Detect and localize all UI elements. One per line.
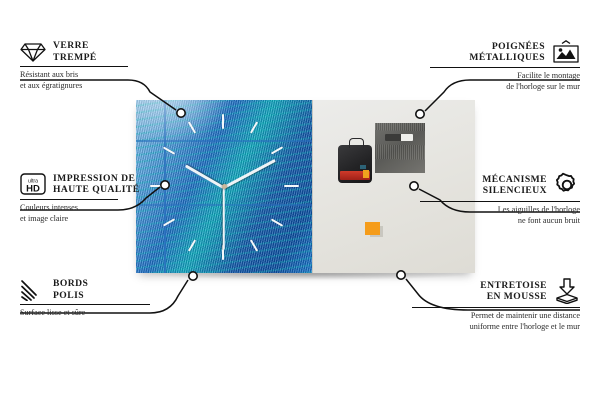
clock-tick [271, 218, 283, 226]
foam-spacer-pad [365, 222, 380, 235]
battery [340, 171, 370, 180]
callout-rule [20, 199, 118, 200]
callout-header: MÉCANISME SILENCIEUX [420, 172, 580, 198]
callout-rule [412, 307, 580, 308]
mechanism-hook-icon [349, 138, 364, 148]
callout-header: VERRE TREMPÉ [20, 40, 160, 63]
callout-subtitle-line1: Couleurs intenses [20, 203, 170, 213]
callout-impression-haute-qualite[interactable]: ultra HD IMPRESSION DE HAUTE QUALITÉ Cou… [20, 172, 170, 224]
picture-hanger-icon [552, 40, 580, 64]
callout-subtitle-line1: Résistant aux bris [20, 70, 160, 80]
battery-terminal [363, 170, 369, 178]
clock-tick [250, 121, 258, 133]
callout-subtitle-line1: Les aiguilles de l'horloge [420, 205, 580, 215]
clock-mechanism-module [338, 145, 372, 183]
callout-mecanisme-silencieux[interactable]: MÉCANISME SILENCIEUX Les aiguilles de l'… [420, 172, 580, 226]
callout-subtitle-line1: Permet de maintenir une distance [412, 311, 580, 321]
callout-title: POIGNÉES MÉTALLIQUES [469, 41, 545, 64]
clock-hour-hand [185, 164, 225, 189]
clock-tick [222, 114, 224, 129]
callout-header: POIGNÉES MÉTALLIQUES [430, 40, 580, 64]
callout-rule [430, 67, 580, 68]
clock-tick [163, 146, 175, 154]
callout-header: BORDS POLIS [20, 278, 170, 301]
callout-subtitle-line2: de l'horloge sur le mur [430, 82, 580, 92]
gear-icon [554, 172, 580, 198]
clock-tick [188, 239, 196, 251]
callout-entretoise-en-mousse[interactable]: ENTRETOISE EN MOUSSE Permet de maintenir… [412, 278, 580, 332]
callout-rule [20, 304, 150, 305]
clock-center-cap [222, 184, 227, 189]
clock-tick [188, 121, 196, 133]
callout-rule [20, 66, 128, 67]
clock-second-hand [223, 188, 225, 250]
callout-verre-trempe[interactable]: VERRE TREMPÉ Résistant aux bris et aux é… [20, 40, 160, 91]
callout-subtitle-line2: et image claire [20, 214, 170, 224]
callout-title: ENTRETOISE EN MOUSSE [480, 280, 547, 303]
callout-poignees-metalliques[interactable]: POIGNÉES MÉTALLIQUES Facilite le montage… [430, 40, 580, 92]
diamond-icon [20, 41, 46, 63]
clock-tick [250, 239, 258, 251]
callout-title: MÉCANISME SILENCIEUX [482, 174, 547, 197]
callout-title: IMPRESSION DE HAUTE QUALITÉ [53, 173, 140, 196]
callout-subtitle-line2: uniforme entre l'horloge et le mur [412, 322, 580, 332]
foam-spacer-icon [554, 278, 580, 304]
callout-bords-polis[interactable]: BORDS POLIS Surface lisse et sûre [20, 278, 170, 319]
callout-subtitle-line2: ne font aucun bruit [420, 216, 580, 226]
callout-header: ultra HD IMPRESSION DE HAUTE QUALITÉ [20, 172, 170, 196]
polished-edges-icon [20, 279, 46, 301]
callout-subtitle-line1: Surface lisse et sûre [20, 308, 170, 318]
clock-minute-hand [223, 159, 276, 189]
clock-tick [271, 146, 283, 154]
svg-text:HD: HD [26, 184, 40, 195]
callout-subtitle-line2: et aux égratignures [20, 81, 160, 91]
callout-header: ENTRETOISE EN MOUSSE [412, 278, 580, 304]
callout-title: BORDS POLIS [53, 278, 88, 301]
clock-tick [284, 185, 299, 187]
product-infographic: VERRE TREMPÉ Résistant aux bris et aux é… [0, 0, 600, 400]
metal-hanger-plate [375, 123, 425, 173]
mechanism-label [360, 165, 366, 169]
callout-subtitle-line1: Facilite le montage [430, 71, 580, 81]
callout-title: VERRE TREMPÉ [53, 40, 97, 63]
ultra-hd-icon: ultra HD [20, 172, 46, 196]
callout-rule [420, 201, 580, 202]
hanger-keyhole-slot [385, 134, 413, 141]
